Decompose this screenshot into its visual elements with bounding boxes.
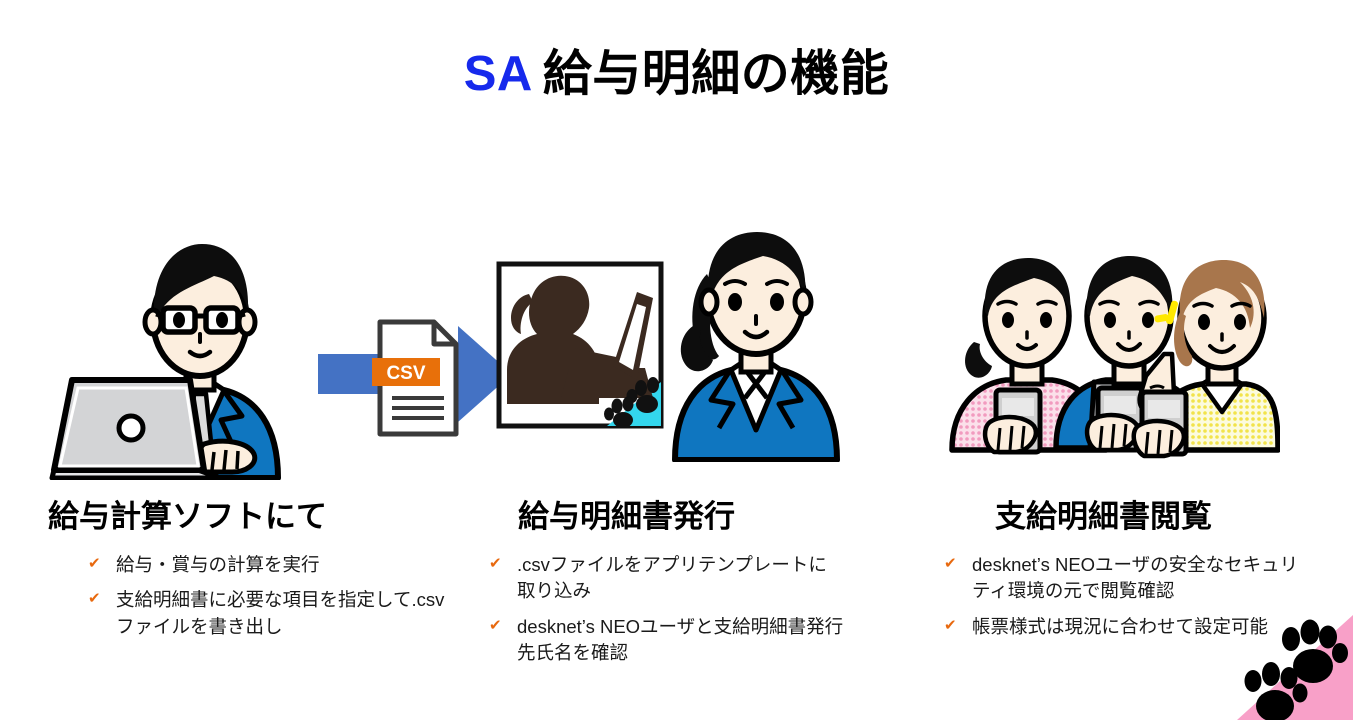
bullet-text: 給与・賞与の計算を実行: [116, 554, 320, 575]
corner-decoration: [1223, 605, 1353, 720]
list-item: ✔.csvファイルをアプリテンプレートに取り込み: [485, 552, 845, 605]
bullet-list: ✔給与・賞与の計算を実行 ✔支給明細書に必要な項目を指定して.csvファイルを書…: [84, 552, 452, 649]
list-item: ✔desknet’s NEOユーザと支給明細書発行先氏名を確認: [485, 614, 845, 667]
man-with-glasses-at-laptop-icon: [48, 230, 308, 480]
title-main-text: 給与明細の機能: [543, 47, 890, 101]
check-icon: ✔: [489, 553, 502, 576]
check-icon: ✔: [88, 588, 101, 611]
list-item: ✔支給明細書に必要な項目を指定して.csvファイルを書き出し: [84, 587, 452, 640]
illustration-three-people-smartphones: [940, 250, 1340, 500]
check-icon: ✔: [944, 553, 957, 576]
csv-badge-label: CSV: [386, 363, 425, 384]
bullet-text: desknet’s NEOユーザと支給明細書発行先氏名を確認: [517, 616, 843, 663]
three-people-with-smartphones-icon: [940, 250, 1280, 460]
page-title: SA給与明細の機能: [0, 46, 1353, 104]
bullet-list: ✔.csvファイルをアプリテンプレートに取り込み ✔desknet’s NEOユ…: [485, 552, 845, 675]
bullet-text: .csvファイルをアプリテンプレートに取り込み: [517, 554, 827, 601]
illustration-payslip-issue: [485, 230, 885, 480]
woman-silhouette-and-businesswoman-icon: [485, 230, 845, 462]
column-payslip-view: 支給明細書閲覧 ✔desknet’s NEOユーザの安全なセキュリティ環境の元で…: [940, 230, 1340, 500]
column-heading: 給与明細書発行: [518, 500, 735, 534]
check-icon: ✔: [88, 553, 101, 576]
check-icon: ✔: [489, 615, 502, 638]
list-item: ✔desknet’s NEOユーザの安全なセキュリティ環境の元で閲覧確認: [940, 552, 1310, 605]
paw-print-corner-icon: [1223, 605, 1353, 720]
column-payslip-issue: 給与明細書発行 ✔.csvファイルをアプリテンプレートに取り込み ✔deskne…: [485, 230, 885, 480]
bullet-text: desknet’s NEOユーザの安全なセキュリティ環境の元で閲覧確認: [972, 554, 1298, 601]
column-heading: 給与計算ソフトにて: [48, 500, 327, 534]
column-heading: 支給明細書閲覧: [995, 500, 1212, 534]
list-item: ✔給与・賞与の計算を実行: [84, 552, 452, 578]
title-accent-sa: SA: [464, 47, 533, 101]
bullet-text: 支給明細書に必要な項目を指定して.csvファイルを書き出し: [116, 589, 444, 636]
check-icon: ✔: [944, 615, 957, 638]
